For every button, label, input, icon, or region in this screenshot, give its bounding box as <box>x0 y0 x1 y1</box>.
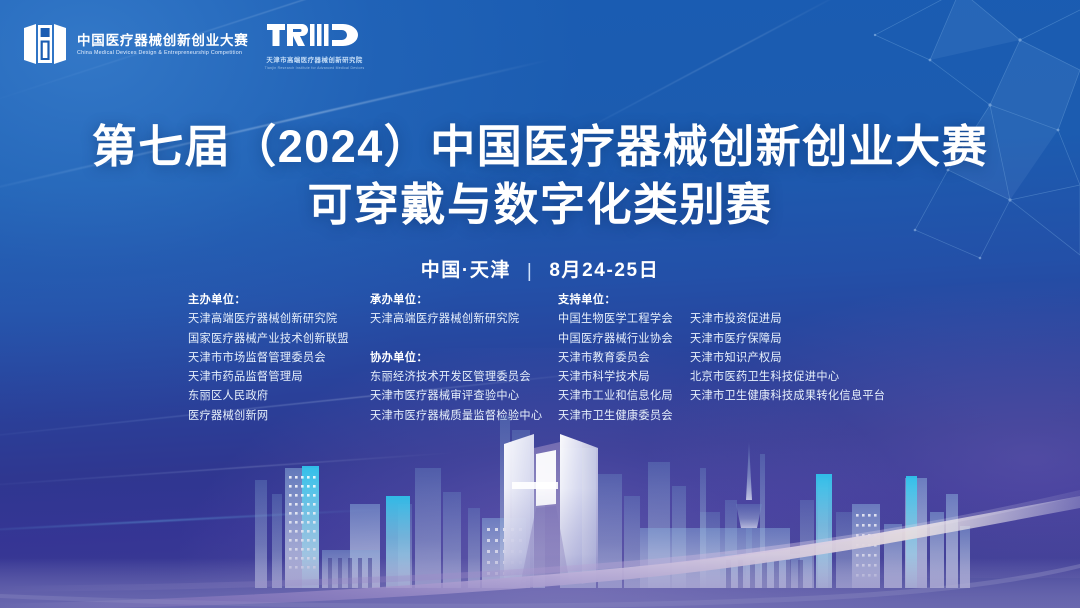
logo-trimd[interactable]: 天津市高端医疗器械创新研究院 Tianjin Research Institut… <box>265 22 365 70</box>
org-item: 东丽区人民政府 <box>188 387 370 406</box>
org-item: 天津市工业和信息化局 <box>558 387 690 406</box>
org-item: 天津市药品监督管理局 <box>188 368 370 387</box>
org-item: 东丽经济技术开发区管理委员会 <box>370 368 558 387</box>
org-heading: 承办单位： <box>370 291 558 310</box>
org-item: 中国医疗器械行业协会 <box>558 330 690 349</box>
org-item: 天津市医疗保障局 <box>690 330 885 349</box>
org-spacer <box>370 330 558 349</box>
logo-cmde[interactable]: 中国医疗器械创新创业大赛 China Medical Devices Desig… <box>22 22 249 66</box>
org-item: 天津市医疗器械审评查验中心 <box>370 387 558 406</box>
org-column-supporters-b: 天津市投资促进局 天津市医疗保障局 天津市知识产权局 北京市医药卫生科技促进中心… <box>690 291 885 407</box>
org-item: 天津市科学技术局 <box>558 368 690 387</box>
subtitle-separator: | <box>527 261 534 283</box>
org-item: 中国生物医学工程学会 <box>558 310 690 329</box>
org-heading: 协办单位： <box>370 349 558 368</box>
org-item: 天津市市场监督管理委员会 <box>188 349 370 368</box>
cmde-logo-cn: 中国医疗器械创新创业大赛 <box>77 33 249 49</box>
organizations-block: 主办单位： 天津高端医疗器械创新研究院 国家医疗器械产业技术创新联盟 天津市市场… <box>188 291 885 426</box>
org-heading: 主办单位： <box>188 291 370 310</box>
subtitle-location: 中国·天津 <box>421 260 511 281</box>
open-door-icon <box>22 22 68 66</box>
org-heading: 支持单位： <box>558 291 690 310</box>
subtitle-location-date: 中国·天津 | 8月24-25日 <box>0 255 1080 282</box>
org-column-supporters-a: 支持单位： 中国生物医学工程学会 中国医疗器械行业协会 天津市教育委员会 天津市… <box>558 291 690 426</box>
org-item: 天津市投资促进局 <box>690 310 885 329</box>
org-column-host-coorganizers: 承办单位： 天津高端医疗器械创新研究院 协办单位： 东丽经济技术开发区管理委员会… <box>370 291 558 426</box>
org-item: 天津市卫生健康科技成果转化信息平台 <box>690 387 885 406</box>
org-item: 天津高端医疗器械创新研究院 <box>188 310 370 329</box>
city-skyline-silhouette <box>0 408 1080 608</box>
trimd-wordmark-icon <box>267 23 362 53</box>
org-item: 天津市知识产权局 <box>690 349 885 368</box>
title-block: 第七届（2024）中国医疗器械创新创业大赛 可穿戴与数字化类别赛 <box>0 118 1080 234</box>
trimd-logo-en: Tianjin Research Institute for Advanced … <box>265 66 365 70</box>
org-item: 天津市教育委员会 <box>558 349 690 368</box>
org-item: 天津高端医疗器械创新研究院 <box>370 310 558 329</box>
title-line-2: 可穿戴与数字化类别赛 <box>0 176 1080 234</box>
org-item: 国家医疗器械产业技术创新联盟 <box>188 330 370 349</box>
org-heading-empty <box>690 291 885 310</box>
cmde-logo-en: China Medical Devices Design & Entrepren… <box>77 51 249 57</box>
logo-bar: 中国医疗器械创新创业大赛 China Medical Devices Desig… <box>22 22 365 70</box>
event-banner: 中国医疗器械创新创业大赛 China Medical Devices Desig… <box>0 0 1080 608</box>
org-item: 北京市医药卫生科技促进中心 <box>690 368 885 387</box>
title-line-1: 第七届（2024）中国医疗器械创新创业大赛 <box>0 118 1080 176</box>
subtitle-date: 8月24-25日 <box>549 260 659 281</box>
org-column-organizers: 主办单位： 天津高端医疗器械创新研究院 国家医疗器械产业技术创新联盟 天津市市场… <box>188 291 370 426</box>
trimd-logo-cn: 天津市高端医疗器械创新研究院 <box>266 55 362 64</box>
